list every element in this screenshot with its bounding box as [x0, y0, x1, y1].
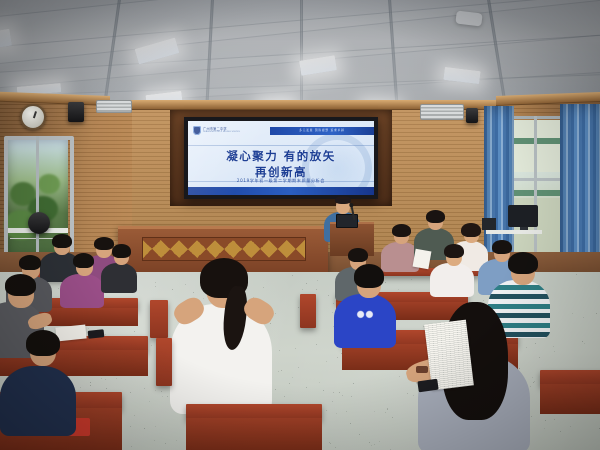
panel-diamond	[215, 238, 233, 260]
floor-speck	[554, 351, 555, 352]
floor-speck	[535, 343, 536, 344]
floor-speck	[333, 303, 334, 304]
floor-speck	[374, 444, 375, 445]
floor-speck	[387, 408, 388, 409]
attendee-hair	[508, 252, 538, 274]
floor-speck	[176, 440, 177, 441]
floor-speck	[519, 368, 520, 369]
floor-speck	[275, 313, 276, 314]
floor-speck	[306, 283, 307, 284]
floor-speck	[270, 323, 271, 324]
floor-speck	[275, 389, 276, 390]
slide-logo: 广州市第二中学 GUANGZHOU NO.2 MIDDLE SCHOOL	[193, 126, 240, 135]
floor-speck	[336, 413, 337, 414]
slide-bottom-bar	[188, 187, 374, 195]
floor-speck	[172, 289, 173, 290]
floor-speck	[398, 289, 399, 290]
floor-speck	[105, 334, 106, 335]
floor-speck	[374, 411, 375, 412]
attendee-body	[60, 274, 104, 308]
floor-speck	[292, 275, 293, 276]
floor-speck	[316, 289, 317, 290]
floor-speck	[369, 442, 370, 443]
floor-speck	[185, 284, 186, 285]
floor-speck	[131, 446, 132, 447]
floor-speck	[106, 388, 107, 389]
floor-speck	[155, 282, 156, 283]
attendee-hair	[492, 240, 512, 254]
attendee-body	[430, 263, 474, 297]
floor-speck	[263, 287, 264, 288]
floor-speck	[130, 426, 131, 427]
floor-speck	[193, 292, 194, 293]
attendee-hair	[354, 264, 384, 288]
floor-speck	[371, 445, 372, 446]
floor-speck	[335, 447, 336, 448]
floor-speck	[162, 396, 163, 397]
attendee-hair	[5, 274, 36, 296]
floor-speck	[155, 286, 156, 287]
attendee-body	[101, 263, 137, 293]
floor-speck	[326, 410, 327, 411]
floor-speck	[284, 396, 285, 397]
floor-speck	[332, 401, 333, 402]
floor-speck	[379, 441, 380, 442]
floor-speck	[328, 295, 329, 296]
floor-speck	[413, 395, 414, 396]
attendee-hair	[348, 248, 368, 262]
attendee-hair	[444, 244, 464, 258]
panel-diamond	[269, 238, 287, 260]
floor-speck	[583, 317, 584, 318]
floor-speck	[339, 392, 340, 393]
floor-speck	[154, 440, 155, 441]
floor-speck	[570, 426, 571, 427]
floor-speck	[532, 377, 533, 378]
attendee-hair	[392, 224, 411, 237]
panel-diamond	[143, 238, 161, 260]
slide-topbar-text: 多元发展 国际视野 追求卓越	[270, 127, 374, 135]
panel-diamond	[179, 238, 197, 260]
floor-speck	[316, 344, 317, 345]
projection-screen[interactable]: 多元发展 国际视野 追求卓越 广州市第二中学 GUANGZHOU NO.2 MI…	[184, 117, 378, 199]
floor-speck	[326, 361, 327, 362]
floor-speck	[533, 382, 534, 383]
floor-speck	[90, 385, 91, 386]
floor-speck	[411, 279, 412, 280]
paper-handout	[413, 249, 432, 270]
floor-speck	[278, 371, 279, 372]
floor-speck	[385, 282, 386, 283]
desk-side	[300, 294, 316, 328]
floor-speck	[333, 392, 334, 393]
attendee-hair	[461, 223, 481, 237]
mobile-phone[interactable]	[88, 329, 105, 339]
floor-speck	[151, 345, 152, 346]
floor-speck	[281, 370, 282, 371]
floor-speck	[319, 382, 320, 383]
floor-speck	[531, 416, 532, 417]
floor-speck	[105, 379, 106, 380]
slide-topbar: 多元发展 国际视野 追求卓越	[270, 127, 374, 135]
wall-clock	[20, 104, 46, 130]
panel-diamond	[161, 238, 179, 260]
floor-speck	[298, 367, 299, 368]
floor-speck	[289, 383, 290, 384]
floor-speck	[407, 393, 408, 394]
floor-speck	[545, 420, 546, 421]
right-window-frame	[508, 116, 568, 264]
slide-rule	[188, 145, 374, 146]
attendee-hair	[19, 255, 41, 270]
floor-speck	[392, 417, 393, 418]
window-mullion	[36, 136, 39, 264]
floor-speck	[134, 415, 135, 416]
floor-speck	[167, 396, 168, 397]
floor-speck	[144, 388, 145, 389]
slide-title-line1: 凝心聚力 有的放矢	[188, 148, 374, 164]
desk-side	[150, 300, 168, 338]
floor-speck	[330, 443, 331, 444]
floor-speck	[350, 423, 351, 424]
air-vent	[420, 104, 464, 120]
floor-speck	[353, 383, 354, 384]
floor-speck	[572, 313, 573, 314]
desktop-monitor	[508, 205, 538, 227]
shield-icon	[193, 126, 201, 135]
floor-speck	[576, 274, 577, 275]
floor-speck	[295, 348, 296, 349]
computer-tower	[482, 218, 496, 230]
floor-speck	[582, 341, 583, 342]
desk-side	[156, 338, 172, 386]
floor-speck	[317, 280, 318, 281]
floor-speck	[116, 378, 117, 379]
attendee-hair	[52, 234, 72, 248]
panel-diamond	[197, 238, 215, 260]
floor-speck	[483, 300, 484, 301]
keyboard	[486, 230, 542, 234]
floor-speck	[144, 428, 145, 429]
floor-speck	[554, 419, 555, 420]
ceiling-speaker	[68, 102, 84, 122]
floor-speck	[596, 313, 597, 314]
floor-speck	[165, 443, 166, 444]
corner-speaker	[28, 212, 50, 234]
floor-speck	[332, 312, 333, 313]
floor-speck	[298, 307, 299, 308]
panel-diamond	[233, 238, 251, 260]
floor-speck	[399, 376, 400, 377]
presentation-slide: 多元发展 国际视野 追求卓越 广州市第二中学 GUANGZHOU NO.2 MI…	[188, 121, 374, 195]
floor-speck	[584, 343, 585, 344]
slide-logo-sub: GUANGZHOU NO.2 MIDDLE SCHOOL	[203, 131, 240, 133]
panel-diamond	[287, 238, 305, 260]
attendee-hair	[426, 210, 445, 223]
floor-speck	[342, 395, 343, 396]
attendee-hair	[112, 244, 131, 258]
floor-speck	[560, 431, 561, 432]
floor-speck	[161, 391, 162, 392]
floor-speck	[292, 377, 293, 378]
floor-speck	[306, 387, 307, 388]
floor-speck	[323, 390, 324, 391]
floor-speck	[149, 401, 150, 402]
floor-speck	[351, 396, 352, 397]
floor-speck	[539, 357, 540, 358]
floor-speck	[279, 350, 280, 351]
desk-front	[186, 418, 322, 450]
floor-speck	[90, 382, 91, 383]
floor-speck	[203, 298, 204, 299]
floor-speck	[553, 346, 554, 347]
floor-speck	[155, 390, 156, 391]
attendee-hair	[26, 330, 60, 356]
floor-speck	[101, 378, 102, 379]
ceiling-speaker	[466, 108, 478, 123]
attendee-body	[0, 366, 76, 436]
slide-subtitle: 2019学年初一级第二学期期末质量分析会	[188, 178, 374, 184]
floor-speck	[134, 331, 135, 332]
floor-speck	[58, 288, 59, 289]
presenter-hair	[335, 196, 351, 204]
presenter-laptop	[336, 214, 358, 228]
floor-speck	[544, 428, 545, 429]
floor-speck	[155, 426, 156, 427]
floor-speck	[130, 392, 131, 393]
floor-speck	[359, 434, 360, 435]
floor-speck	[302, 289, 303, 290]
floor-speck	[526, 347, 527, 348]
floor-speck	[387, 409, 388, 410]
attendee-hair	[94, 237, 114, 250]
window-mullion	[508, 178, 568, 181]
classroom-photo: 多元发展 国际视野 追求卓越 广州市第二中学 GUANGZHOU NO.2 MI…	[0, 0, 600, 450]
floor-speck	[346, 411, 347, 412]
floor-speck	[80, 387, 81, 388]
shirt-graphic	[354, 308, 376, 324]
attendee-hair	[73, 253, 94, 268]
wristwatch	[416, 366, 428, 373]
window-mullion	[534, 116, 537, 264]
floor-speck	[530, 386, 531, 387]
desk-front	[540, 384, 600, 414]
floor-speck	[337, 357, 338, 358]
floor-speck	[385, 412, 386, 413]
air-vent	[96, 100, 132, 113]
floor-speck	[88, 328, 89, 329]
panel-diamond	[251, 238, 269, 260]
